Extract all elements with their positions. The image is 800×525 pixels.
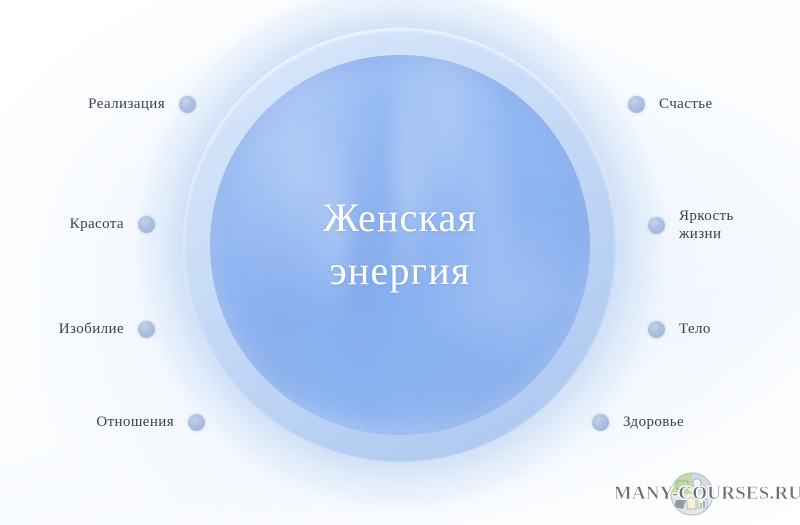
node-dot-icon (592, 414, 609, 431)
node-krasota[interactable]: Красота (70, 215, 155, 233)
node-dot-icon (179, 96, 196, 113)
node-dot-icon (648, 217, 665, 234)
node-label-yarkost: Яркость жизни (679, 207, 734, 244)
emblem-inner-disc: Женская энергия (210, 55, 590, 435)
node-telo[interactable]: Тело (648, 320, 711, 338)
emblem-outer-ring: Женская энергия (183, 28, 617, 462)
center-title-line-1: Женская (323, 192, 477, 245)
node-dot-icon (138, 216, 155, 233)
node-izobilie[interactable]: Изобилие (59, 320, 155, 338)
center-title-line-2: энергия (330, 245, 471, 298)
node-label-realizaciya: Реализация (88, 95, 165, 113)
node-otnosheniya[interactable]: Отношения (96, 413, 205, 431)
center-title: Женская энергия (210, 55, 590, 435)
watermark-text: MANY-COURSES.RU (614, 483, 800, 505)
node-label-yarkost-line-1: Яркость (679, 208, 734, 224)
node-dot-icon (628, 96, 645, 113)
node-label-yarkost-line-2: жизни (679, 225, 734, 243)
node-label-telo: Тело (679, 320, 711, 338)
node-yarkost[interactable]: Яркость жизни (648, 207, 734, 244)
node-label-schastye: Счастье (659, 95, 713, 113)
central-emblem: Женская энергия (183, 28, 617, 462)
node-label-otnosheniya: Отношения (96, 413, 174, 431)
node-realizaciya[interactable]: Реализация (88, 95, 196, 113)
node-schastye[interactable]: Счастье (628, 95, 713, 113)
watermark: MANY-COURSES.RU (622, 472, 794, 516)
node-label-izobilie: Изобилие (59, 320, 124, 338)
node-zdorovye[interactable]: Здоровье (592, 413, 684, 431)
node-dot-icon (188, 414, 205, 431)
node-label-zdorovye: Здоровье (623, 413, 684, 431)
node-dot-icon (138, 321, 155, 338)
node-label-krasota: Красота (70, 215, 124, 233)
slide-canvas: Женская энергия Реализация Красота Изоби… (0, 0, 800, 525)
node-dot-icon (648, 321, 665, 338)
